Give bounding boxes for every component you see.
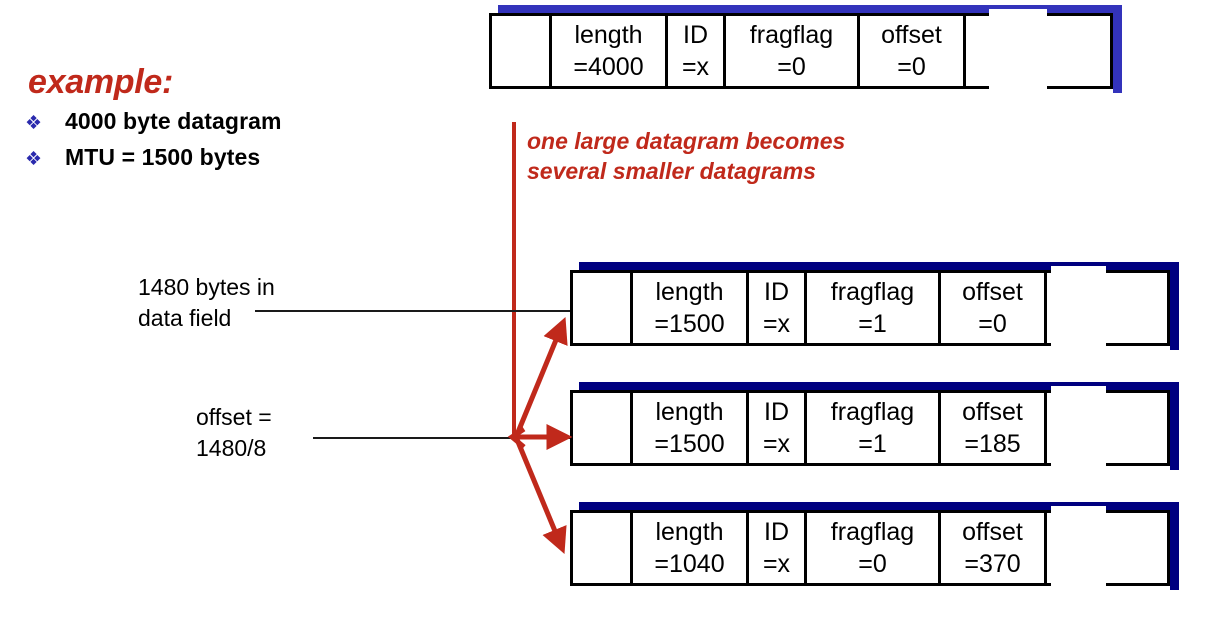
field-name-id: ID (764, 276, 789, 308)
field-value-offset: =0 (978, 308, 1007, 340)
datagram-frame: length =1500 ID =x fragflag =1 offset =1… (570, 390, 1170, 466)
field-value-id: =x (763, 308, 790, 340)
field-value-length: =1500 (654, 428, 724, 460)
field-value-id: =x (763, 548, 790, 580)
field-name-length: length (574, 19, 642, 51)
leader-line-offset (313, 437, 580, 439)
datagram-payload-notch-top (1051, 506, 1106, 514)
leader-label-offset: offset = 1480/8 (196, 402, 272, 464)
list-item: ❖ 4000 byte datagram (22, 108, 442, 144)
datagram-shadow-right (1170, 382, 1179, 470)
leader-label-line-1: 1480 bytes in (138, 272, 275, 303)
datagram-cell-leading-pad (492, 16, 552, 86)
list-item: ❖ MTU = 1500 bytes (22, 144, 442, 180)
datagram-payload-notch-bottom (1051, 341, 1106, 347)
field-value-offset: =185 (964, 428, 1020, 460)
datagram-cell-id: ID =x (668, 16, 726, 86)
datagram-cell-offset: offset =0 (941, 273, 1047, 343)
leader-line-data-field (255, 310, 580, 312)
datagram-cell-id: ID =x (749, 513, 807, 583)
datagram-cell-offset: offset =0 (860, 16, 966, 86)
datagram-payload-notch-bottom (1051, 581, 1106, 587)
datagram-cell-length: length =1040 (633, 513, 749, 583)
field-value-fragflag: =0 (858, 548, 887, 580)
datagram-shadow-right (1170, 502, 1179, 590)
field-value-fragflag: =0 (777, 51, 806, 83)
arrow-to-fragment-3 (516, 437, 562, 548)
field-name-length: length (655, 396, 723, 428)
datagram-cell-payload (1047, 273, 1167, 343)
arrow-to-fragment-1 (516, 323, 563, 437)
datagram-shadow-right (1170, 262, 1179, 350)
field-name-offset: offset (962, 396, 1023, 428)
field-value-fragflag: =1 (858, 428, 887, 460)
diamond-bullet-icon: ❖ (22, 114, 65, 133)
diamond-bullet-icon: ❖ (22, 150, 65, 169)
datagram-cell-payload (1047, 513, 1167, 583)
field-name-id: ID (683, 19, 708, 51)
field-name-offset: offset (962, 276, 1023, 308)
leader-label-line-2: data field (138, 303, 275, 334)
field-value-length: =1500 (654, 308, 724, 340)
field-value-offset: =0 (897, 51, 926, 83)
datagram-frame: length =1500 ID =x fragflag =1 offset =0 (570, 270, 1170, 346)
field-value-length: =1040 (654, 548, 724, 580)
field-value-offset: =370 (964, 548, 1020, 580)
field-value-length: =4000 (573, 51, 643, 83)
field-value-id: =x (682, 51, 709, 83)
field-name-length: length (655, 516, 723, 548)
datagram-cell-length: length =1500 (633, 273, 749, 343)
datagram-shadow-right (1113, 5, 1122, 93)
leader-label-data-field: 1480 bytes in data field (138, 272, 275, 334)
datagram-cell-payload (966, 16, 1110, 86)
field-value-fragflag: =1 (858, 308, 887, 340)
datagram-cell-id: ID =x (749, 393, 807, 463)
field-name-id: ID (764, 396, 789, 428)
datagram-payload-notch-top (1051, 386, 1106, 394)
datagram-cell-leading-pad (573, 513, 633, 583)
annotation-text: one large datagram becomes several small… (527, 126, 845, 186)
datagram-payload-notch-top (989, 9, 1047, 17)
datagram-cell-id: ID =x (749, 273, 807, 343)
example-title: example: (28, 63, 173, 102)
datagram-payload-notch-bottom (989, 84, 1047, 90)
list-item-label: MTU = 1500 bytes (65, 144, 260, 171)
datagram-frame: length =1040 ID =x fragflag =0 offset =3… (570, 510, 1170, 586)
bullet-list: ❖ 4000 byte datagram ❖ MTU = 1500 bytes (22, 108, 442, 180)
annotation-line-2: several smaller datagrams (527, 156, 845, 186)
datagram-cell-offset: offset =370 (941, 513, 1047, 583)
datagram-payload-notch-bottom (1051, 461, 1106, 467)
field-value-id: =x (763, 428, 790, 460)
field-name-offset: offset (881, 19, 942, 51)
field-name-fragflag: fragflag (750, 19, 833, 51)
datagram-cell-fragflag: fragflag =1 (807, 273, 941, 343)
leader-label-line-2: 1480/8 (196, 433, 272, 464)
field-name-offset: offset (962, 516, 1023, 548)
field-name-fragflag: fragflag (831, 276, 914, 308)
field-name-fragflag: fragflag (831, 516, 914, 548)
datagram-frame: length =4000 ID =x fragflag =0 offset =0 (489, 13, 1113, 89)
datagram-cell-fragflag: fragflag =1 (807, 393, 941, 463)
datagram-cell-offset: offset =185 (941, 393, 1047, 463)
datagram-cell-length: length =4000 (552, 16, 668, 86)
annotation-vertical-rule (512, 122, 516, 438)
datagram-payload-notch-top (1051, 266, 1106, 274)
field-name-id: ID (764, 516, 789, 548)
field-name-fragflag: fragflag (831, 396, 914, 428)
datagram-cell-leading-pad (573, 273, 633, 343)
datagram-cell-fragflag: fragflag =0 (807, 513, 941, 583)
datagram-cell-leading-pad (573, 393, 633, 463)
field-name-length: length (655, 276, 723, 308)
leader-label-line-1: offset = (196, 402, 272, 433)
datagram-cell-fragflag: fragflag =0 (726, 16, 860, 86)
annotation-line-1: one large datagram becomes (527, 126, 845, 156)
list-item-label: 4000 byte datagram (65, 108, 282, 135)
datagram-cell-length: length =1500 (633, 393, 749, 463)
datagram-cell-payload (1047, 393, 1167, 463)
